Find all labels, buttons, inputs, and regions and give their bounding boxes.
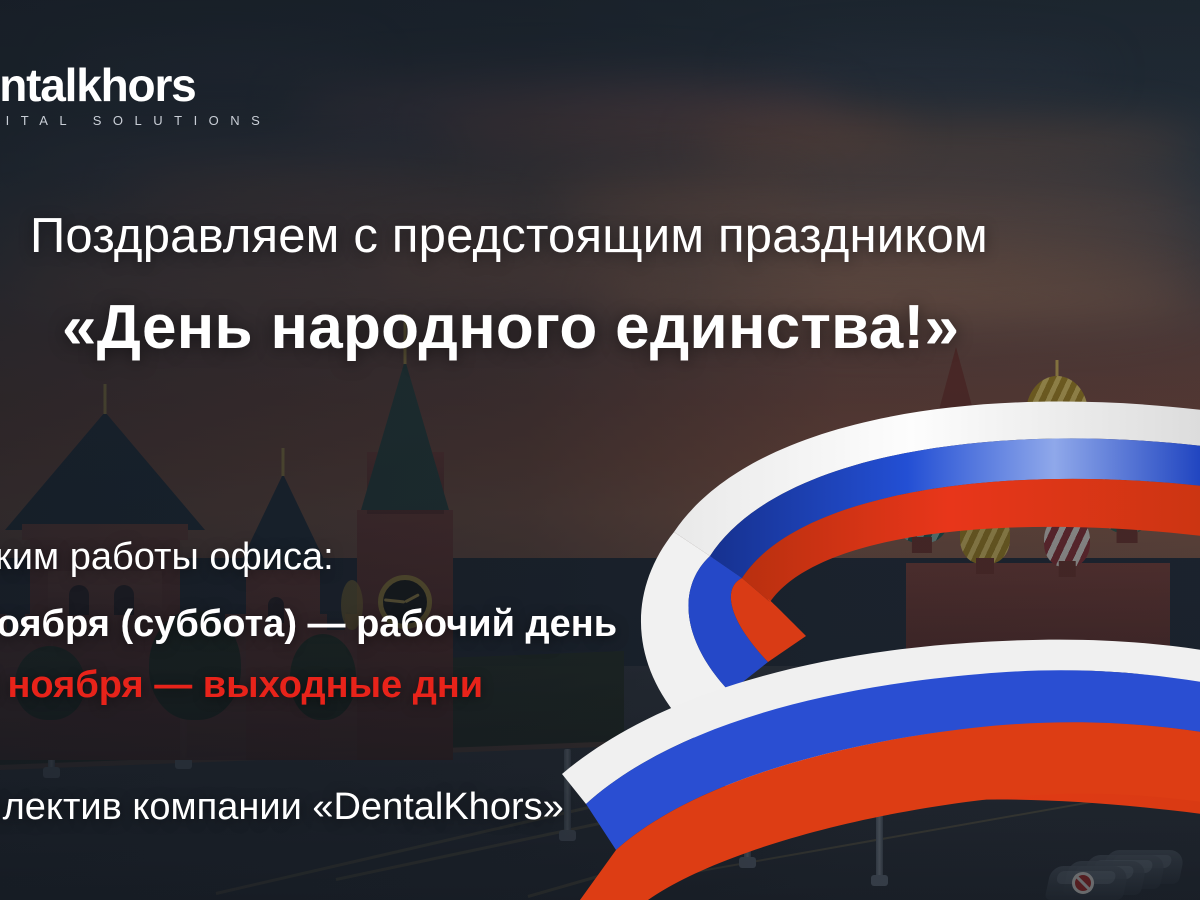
signoff-text: Коллектив компании «DentalKhors»: [0, 786, 564, 829]
brand-logo[interactable]: dentalkhors DIGITAL SOLUTIONS: [0, 62, 271, 128]
headline-line-2: «День народного единства!»: [62, 292, 1200, 363]
schedule-title: Режим работы офиса:: [0, 536, 617, 579]
office-schedule: Режим работы офиса: 2 ноября (суббота) —…: [0, 536, 617, 707]
schedule-workday: 2 ноября (суббота) — рабочий день: [0, 603, 617, 646]
headline-line-1: Поздравляем с предстоящим праздником: [30, 208, 1170, 264]
logo-tagline: DIGITAL SOLUTIONS: [0, 113, 271, 128]
logo-wordmark: dentalkhors: [0, 62, 271, 108]
schedule-holidays: 3-4 ноября — выходные дни: [0, 664, 617, 707]
banner-content: dentalkhors DIGITAL SOLUTIONS Поздравляе…: [0, 0, 1200, 900]
greeting-banner: dentalkhors DIGITAL SOLUTIONS Поздравляе…: [0, 0, 1200, 900]
